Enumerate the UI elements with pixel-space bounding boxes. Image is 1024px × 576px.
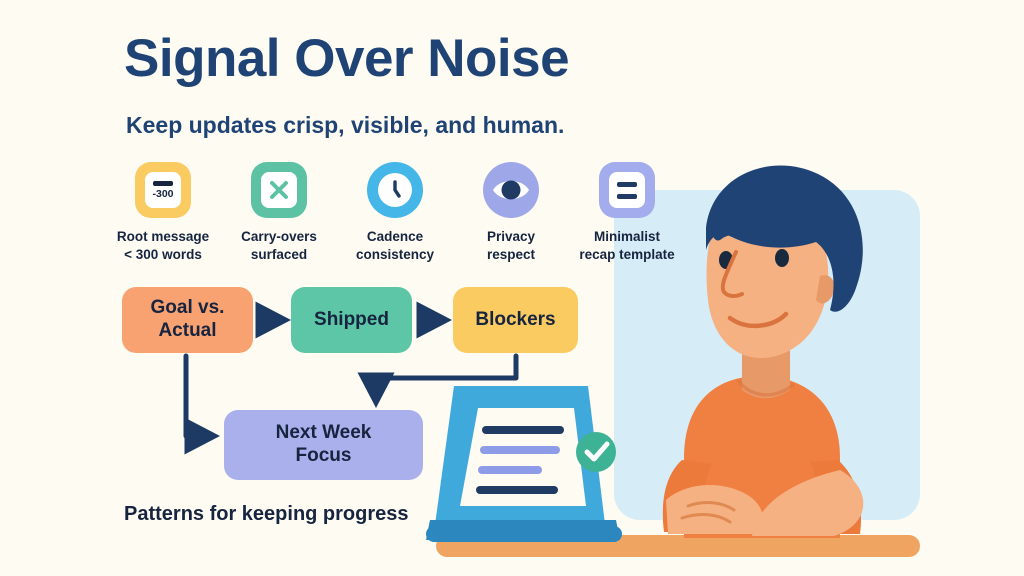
feature-label-line1: Cadence bbox=[367, 229, 423, 244]
close-x-card bbox=[261, 172, 297, 208]
recap-line-2 bbox=[617, 194, 637, 199]
clock-hands-icon bbox=[380, 175, 410, 205]
feature-label-line2: recap template bbox=[579, 247, 674, 262]
page-subtitle: Keep updates crisp, visible, and human. bbox=[126, 112, 564, 139]
screen-line-4 bbox=[476, 486, 558, 494]
word-limit-value: -300 bbox=[152, 189, 173, 200]
screen-line-2 bbox=[480, 446, 560, 454]
word-limit-icon: -300 bbox=[135, 162, 191, 218]
recap-lines-icon bbox=[599, 162, 655, 218]
flow-node-label: Next WeekFocus bbox=[276, 422, 372, 468]
feature-recap-template: Minimalist recap template bbox=[582, 162, 672, 264]
close-x-icon bbox=[251, 162, 307, 218]
eye-glyph-icon bbox=[486, 165, 536, 215]
feature-root-message: -300 Root message < 300 words bbox=[118, 162, 208, 264]
feature-label-carry-overs: Carry-overs surfaced bbox=[241, 228, 317, 264]
infographic-canvas: Signal Over Noise Keep updates crisp, vi… bbox=[0, 0, 1024, 576]
feature-label-line1: Minimalist bbox=[594, 229, 660, 244]
flow-node-label: Goal vs.Actual bbox=[151, 297, 225, 343]
eye-icon bbox=[483, 162, 539, 218]
edge-goal-to-next bbox=[186, 356, 208, 436]
flow-node-next-week-focus[interactable]: Next WeekFocus bbox=[224, 410, 423, 480]
word-limit-card: -300 bbox=[145, 172, 181, 208]
clock-icon bbox=[367, 162, 423, 218]
flow-node-goal-vs-actual[interactable]: Goal vs.Actual bbox=[122, 287, 253, 353]
feature-label-root-message: Root message < 300 words bbox=[117, 228, 209, 264]
feature-label-cadence: Cadence consistency bbox=[356, 228, 434, 264]
feature-label-line2: surfaced bbox=[251, 247, 307, 262]
feature-label-line2: respect bbox=[487, 247, 535, 262]
recap-line-1 bbox=[617, 182, 637, 187]
flow-node-label: Blockers bbox=[475, 309, 555, 332]
page-title: Signal Over Noise bbox=[124, 28, 569, 89]
screen-line-3 bbox=[478, 466, 542, 474]
flow-node-blockers[interactable]: Blockers bbox=[453, 287, 578, 353]
footer-caption: Patterns for keeping progress bbox=[124, 503, 409, 526]
feature-carry-overs: Carry-overs surfaced bbox=[234, 162, 324, 264]
feature-label-recap-template: Minimalist recap template bbox=[579, 228, 674, 264]
laptop-keyboard-edge bbox=[426, 526, 622, 542]
feature-cadence: Cadence consistency bbox=[350, 162, 440, 264]
feature-row: -300 Root message < 300 words Carry-over… bbox=[118, 162, 672, 264]
check-circle-icon bbox=[576, 432, 616, 472]
feature-label-privacy: Privacy respect bbox=[487, 228, 535, 264]
feature-label-line1: Privacy bbox=[487, 229, 535, 244]
clock-face bbox=[378, 173, 412, 207]
feature-label-line1: Root message bbox=[117, 229, 209, 244]
person-eye-right bbox=[775, 249, 789, 267]
feature-label-line2: consistency bbox=[356, 247, 434, 262]
feature-label-line1: Carry-overs bbox=[241, 229, 317, 244]
recap-lines-card bbox=[609, 172, 645, 208]
word-limit-bar bbox=[153, 181, 173, 186]
flow-node-shipped[interactable]: Shipped bbox=[291, 287, 412, 353]
x-glyph-icon bbox=[268, 179, 290, 201]
feature-label-line2: < 300 words bbox=[124, 247, 202, 262]
flow-node-label: Shipped bbox=[314, 309, 389, 332]
screen-line-1 bbox=[482, 426, 564, 434]
feature-privacy: Privacy respect bbox=[466, 162, 556, 264]
